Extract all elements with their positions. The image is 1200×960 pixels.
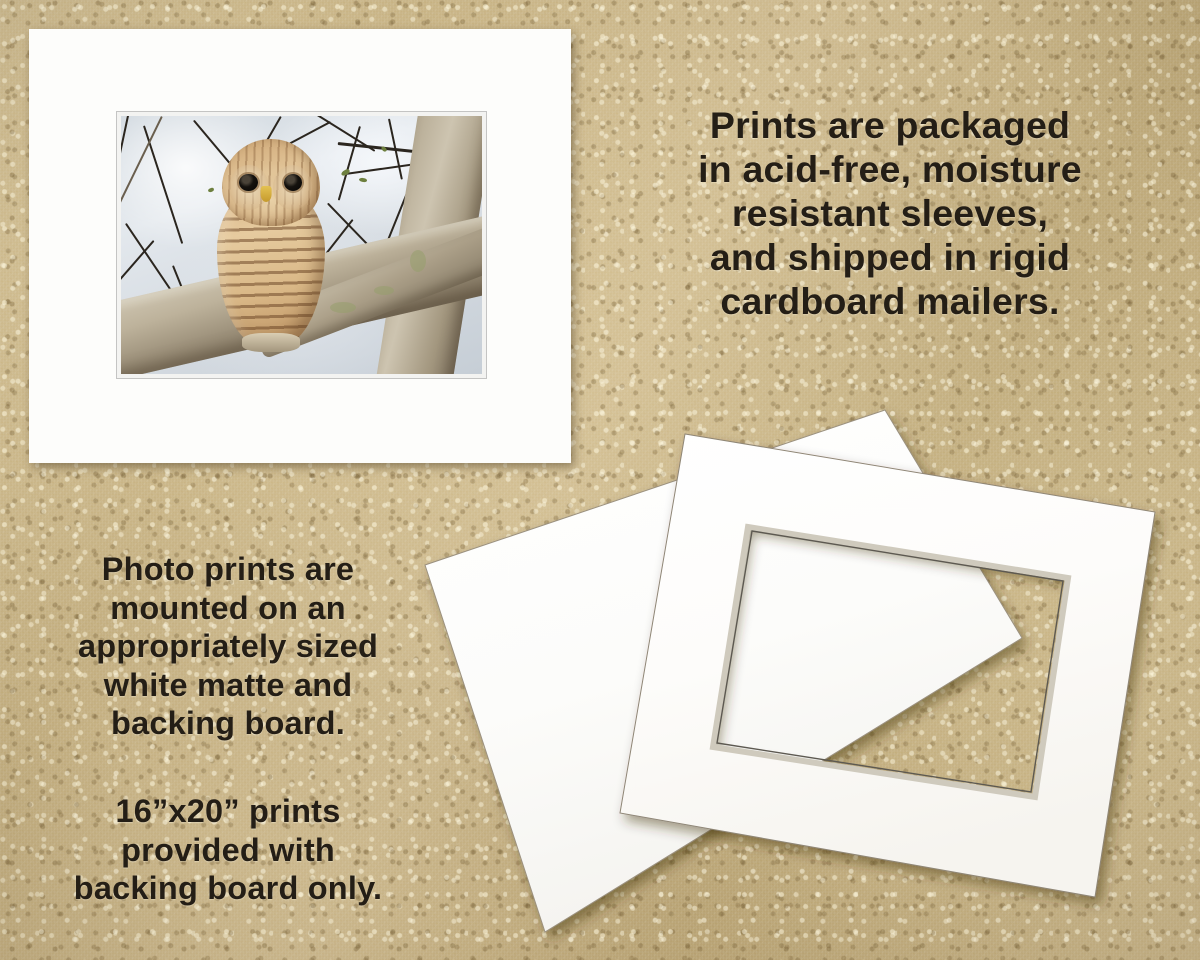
slide-canvas: Prints are packaged in acid-free, moistu… (0, 0, 1200, 960)
cut-matte-board (620, 434, 1155, 897)
size-note-text: 16”x20” prints provided with backing boa… (18, 792, 438, 908)
packaging-text: Prints are packaged in acid-free, moistu… (596, 103, 1184, 323)
mounting-text: Photo prints are mounted on an appropria… (18, 550, 438, 743)
